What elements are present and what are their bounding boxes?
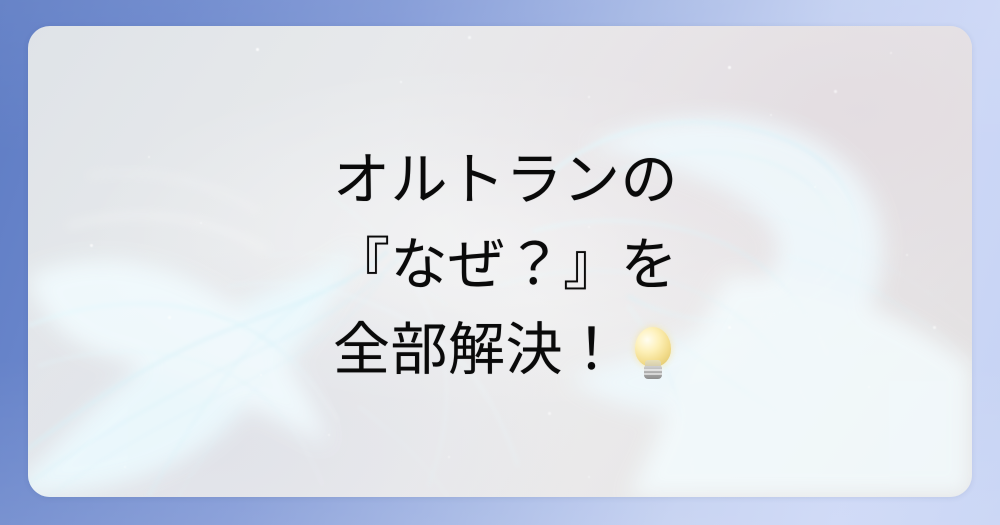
title-line-3: 全部解決！ bbox=[333, 308, 621, 393]
light-bulb-icon bbox=[631, 326, 675, 380]
title-card-screenshot: オルトランの 『なぜ？』を 全部解決！ bbox=[0, 0, 1000, 525]
title-line-1: オルトランの bbox=[333, 138, 953, 223]
page-title: オルトランの 『なぜ？』を 全部解決！ bbox=[333, 138, 953, 393]
title-line-2: 『なぜ？』を bbox=[333, 223, 953, 308]
title-line-3-row: 全部解決！ bbox=[333, 308, 953, 393]
light-bulb-base bbox=[644, 366, 662, 379]
content-card: オルトランの 『なぜ？』を 全部解決！ bbox=[28, 26, 972, 497]
